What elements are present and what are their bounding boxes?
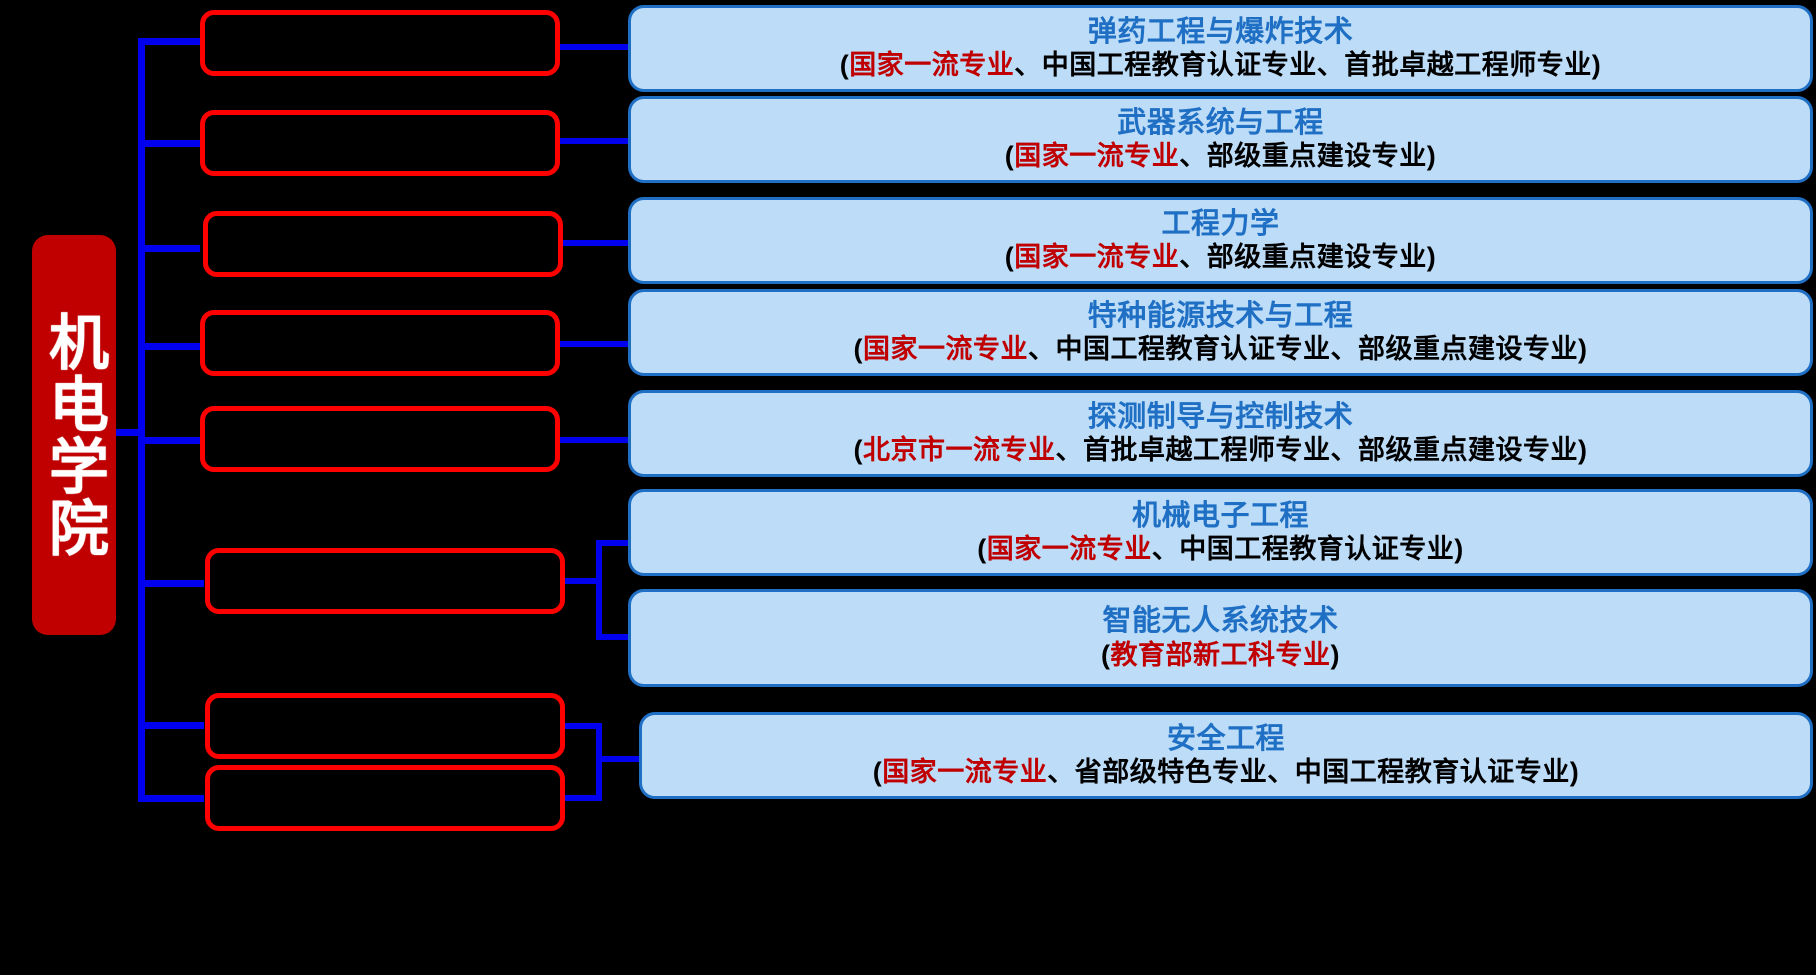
major-title: 弹药工程与爆炸技术 — [1088, 15, 1354, 49]
connector-branch-1 — [138, 38, 200, 45]
major-card-6[interactable]: 机械电子工程 (国家一流专业、中国工程教育认证专业) — [628, 489, 1813, 576]
sub-rest: 、首批卓越工程师专业、部级重点建设专业) — [1056, 435, 1588, 465]
connector-mid78-riser — [596, 723, 602, 801]
major-title: 探测制导与控制技术 — [1088, 400, 1354, 434]
major-card-5[interactable]: 探测制导与控制技术 (北京市一流专业、首批卓越工程师专业、部级重点建设专业) — [628, 390, 1813, 477]
sub-highlight: 北京市一流专业 — [863, 435, 1056, 465]
sub-open-paren: ( — [840, 50, 850, 80]
sub-highlight: 国家一流专业 — [882, 757, 1047, 787]
major-card-3[interactable]: 工程力学 (国家一流专业、部级重点建设专业) — [628, 197, 1813, 284]
connector-branch-7 — [138, 722, 204, 729]
connector-root-stub — [116, 429, 138, 436]
major-subtitle: (国家一流专业、中国工程教育认证专业) — [977, 534, 1464, 566]
major-subtitle: (国家一流专业、部级重点建设专业) — [1005, 242, 1437, 274]
major-card-1[interactable]: 弹药工程与爆炸技术 (国家一流专业、中国工程教育认证专业、首批卓越工程师专业) — [628, 5, 1813, 92]
root-node-label: 机电学院 — [43, 311, 106, 559]
sub-open-paren: ( — [873, 757, 883, 787]
connector-trunk — [138, 42, 145, 802]
connector-mid6-major7 — [596, 634, 630, 640]
connector-mid6-major6 — [596, 540, 630, 546]
major-subtitle: (国家一流专业、部级重点建设专业) — [1005, 141, 1437, 173]
connector-mid8-stub — [565, 795, 600, 801]
major-card-7[interactable]: 智能无人系统技术 (教育部新工科专业) — [628, 589, 1813, 687]
major-card-2[interactable]: 武器系统与工程 (国家一流专业、部级重点建设专业) — [628, 96, 1813, 183]
connector-mid5-major5 — [560, 437, 630, 443]
sub-rest: 、中国工程教育认证专业) — [1152, 534, 1464, 564]
sub-open-paren: ( — [977, 534, 987, 564]
sub-open-paren: ( — [1005, 242, 1015, 272]
sub-highlight: 国家一流专业 — [987, 534, 1152, 564]
mid-node-4[interactable] — [200, 310, 560, 376]
connector-mid6-riser — [596, 540, 602, 640]
connector-mid2-major2 — [560, 138, 630, 144]
sub-highlight: 教育部新工科专业 — [1111, 640, 1331, 670]
connector-branch-3 — [138, 245, 200, 252]
diagram-canvas: 机电学院 弹药工程与爆炸技术 (国家一流专业、中国工程教育认证专业、首批卓越工程… — [0, 0, 1816, 975]
sub-open-paren: ( — [1101, 640, 1111, 670]
major-subtitle: (国家一流专业、中国工程教育认证专业、部级重点建设专业) — [854, 334, 1588, 366]
major-title: 武器系统与工程 — [1117, 106, 1324, 140]
mid-node-5[interactable] — [200, 406, 560, 472]
connector-mid1-major1 — [560, 44, 630, 50]
connector-branch-5 — [138, 437, 200, 444]
major-title: 机械电子工程 — [1132, 499, 1309, 533]
major-title: 工程力学 — [1161, 207, 1279, 241]
major-title: 特种能源技术与工程 — [1088, 299, 1354, 333]
major-subtitle: (教育部新工科专业) — [1101, 640, 1340, 672]
sub-highlight: 国家一流专业 — [863, 334, 1028, 364]
sub-highlight: 国家一流专业 — [1014, 242, 1179, 272]
major-card-8[interactable]: 安全工程 (国家一流专业、省部级特色专业、中国工程教育认证专业) — [639, 712, 1813, 799]
mid-node-6[interactable] — [205, 548, 565, 614]
root-node-college[interactable]: 机电学院 — [32, 235, 116, 635]
major-subtitle: (国家一流专业、中国工程教育认证专业、首批卓越工程师专业) — [840, 50, 1602, 82]
mid-node-2[interactable] — [200, 110, 560, 176]
sub-rest: 、省部级特色专业、中国工程教育认证专业) — [1047, 757, 1579, 787]
mid-node-7[interactable] — [205, 693, 565, 759]
major-subtitle: (国家一流专业、省部级特色专业、中国工程教育认证专业) — [873, 757, 1580, 789]
connector-branch-6 — [138, 580, 204, 587]
connector-mid4-major4 — [560, 341, 630, 347]
mid-node-1[interactable] — [200, 10, 560, 76]
connector-mid7-stub — [565, 723, 600, 729]
major-title: 智能无人系统技术 — [1102, 604, 1338, 638]
connector-branch-4 — [138, 343, 200, 350]
mid-node-3[interactable] — [203, 211, 563, 277]
sub-highlight: 国家一流专业 — [849, 50, 1014, 80]
mid-node-8[interactable] — [205, 765, 565, 831]
sub-rest: 、中国工程教育认证专业、部级重点建设专业) — [1028, 334, 1588, 364]
major-card-4[interactable]: 特种能源技术与工程 (国家一流专业、中国工程教育认证专业、部级重点建设专业) — [628, 289, 1813, 376]
sub-rest: 、部级重点建设专业) — [1179, 141, 1436, 171]
sub-rest: 、部级重点建设专业) — [1179, 242, 1436, 272]
major-subtitle: (北京市一流专业、首批卓越工程师专业、部级重点建设专业) — [854, 435, 1588, 467]
major-title: 安全工程 — [1167, 722, 1285, 756]
sub-rest: ) — [1331, 640, 1341, 670]
connector-branch-2 — [138, 140, 200, 147]
connector-mid3-major3 — [563, 240, 630, 246]
sub-open-paren: ( — [854, 334, 864, 364]
sub-open-paren: ( — [1005, 141, 1015, 171]
sub-rest: 、中国工程教育认证专业、首批卓越工程师专业) — [1014, 50, 1601, 80]
connector-branch-8 — [138, 795, 204, 802]
sub-open-paren: ( — [854, 435, 864, 465]
connector-mid6-stub — [565, 578, 600, 584]
sub-highlight: 国家一流专业 — [1014, 141, 1179, 171]
connector-mid78-major8 — [596, 756, 640, 762]
